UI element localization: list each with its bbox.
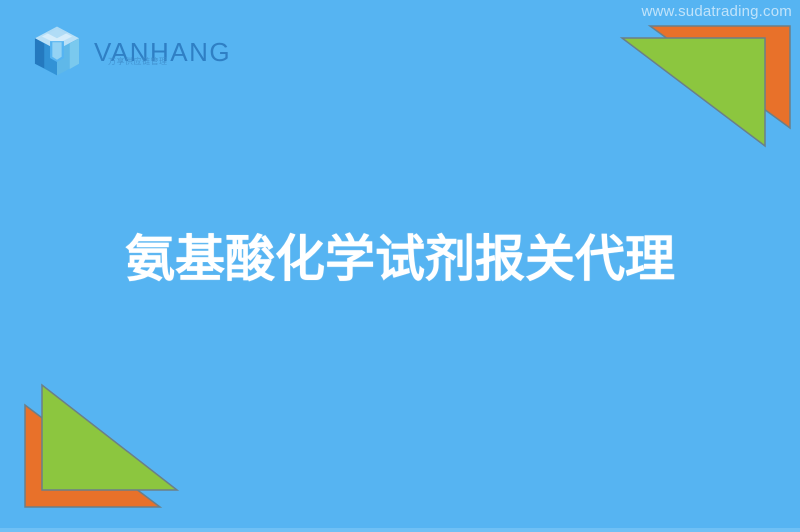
- orange-triangle-icon: [650, 26, 790, 128]
- logo-subtext: 万享供应链管理: [108, 56, 168, 67]
- page-title: 氨基酸化学试剂报关代理: [0, 232, 800, 287]
- orange-triangle-icon: [25, 405, 160, 507]
- bottom-edge-strip: [0, 528, 800, 532]
- green-triangle-icon: [622, 38, 765, 146]
- top-right-triangle-decoration: [600, 0, 800, 160]
- site-watermark: www.sudatrading.com: [641, 3, 792, 20]
- company-logo: VANHANG 万享供应链管理: [28, 22, 231, 80]
- bottom-left-triangle-decoration: [0, 372, 200, 532]
- marketing-banner: www.sudatrading.com VANHANG 万享供应链管理 氨基酸化…: [0, 0, 800, 532]
- vanhang-cube-logo-icon: [28, 22, 86, 80]
- green-triangle-icon: [42, 385, 177, 490]
- logo-text-block: VANHANG 万享供应链管理: [94, 37, 231, 65]
